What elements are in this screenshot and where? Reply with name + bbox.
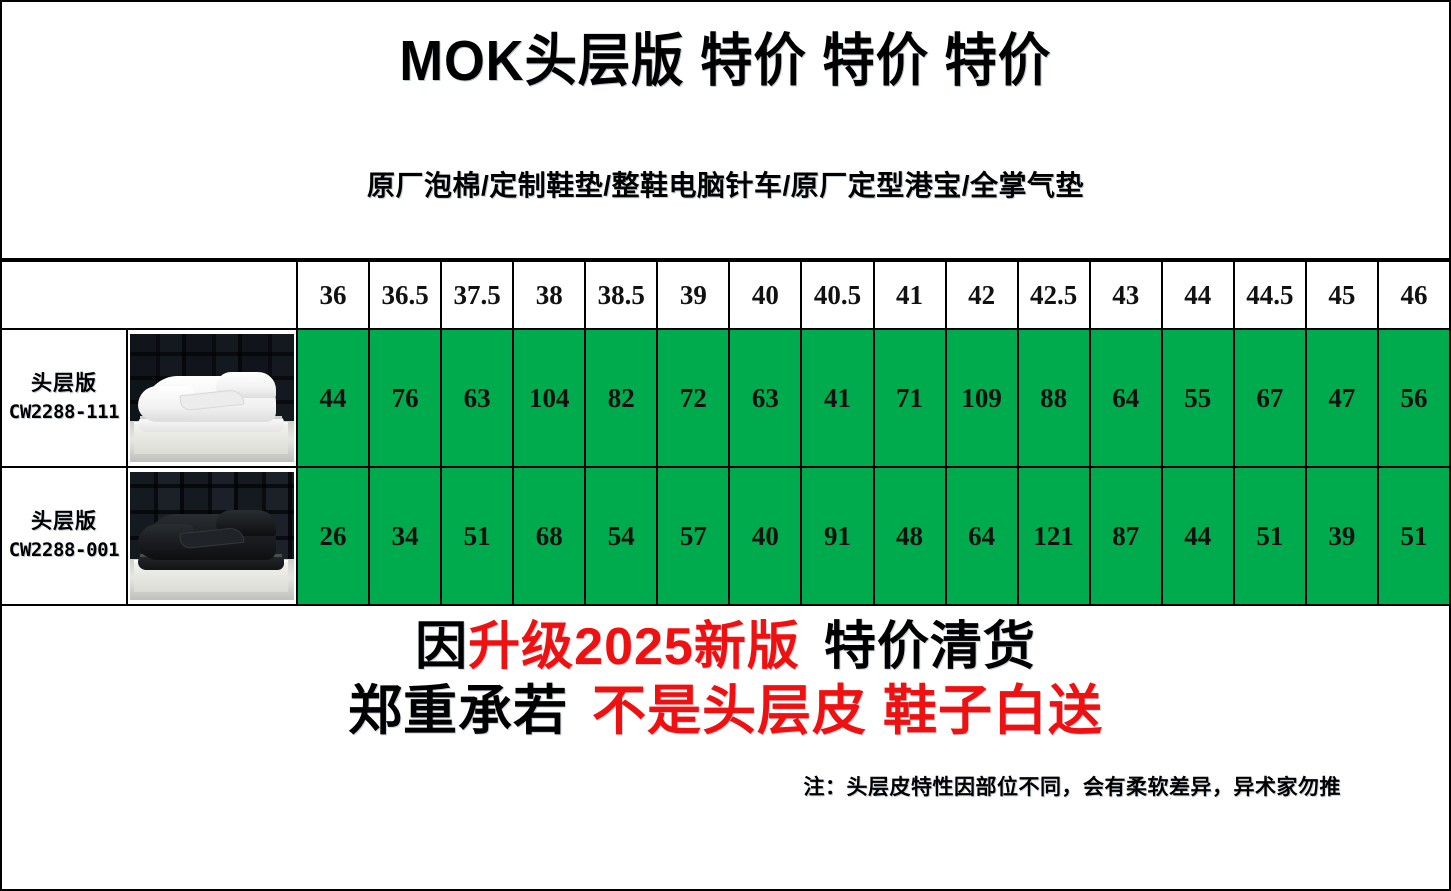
- size-header-44: 44: [1162, 261, 1234, 329]
- qty-cw2288-111-36: 44: [297, 329, 369, 467]
- product-photo-cell-black: [127, 467, 297, 605]
- qty-cw2288-111-38-5: 82: [585, 329, 657, 467]
- product-name-cn: 头层版: [2, 507, 126, 537]
- size-header-45: 45: [1306, 261, 1378, 329]
- qty-cw2288-111-44-5: 67: [1234, 329, 1306, 467]
- size-header-40-5: 40.5: [801, 261, 873, 329]
- qty-cw2288-001-38: 68: [513, 467, 585, 605]
- qty-cw2288-001-36: 26: [297, 467, 369, 605]
- qty-cw2288-001-39: 57: [657, 467, 729, 605]
- promo-line2-prefix: 郑重承若: [348, 681, 568, 741]
- product-name-cn: 头层版: [2, 369, 126, 399]
- stock-sheet: MOK头层版 特价 特价 特价 原厂泡棉/定制鞋垫/整鞋电脑针车/原厂定型港宝/…: [0, 0, 1451, 887]
- qty-cw2288-001-44-5: 51: [1234, 467, 1306, 605]
- qty-cw2288-111-42: 109: [946, 329, 1018, 467]
- qty-cw2288-001-44: 44: [1162, 467, 1234, 605]
- size-header-40: 40: [729, 261, 801, 329]
- qty-cw2288-111-40-5: 41: [801, 329, 873, 467]
- promo-line2-highlight: 不是头层皮 鞋子白送: [592, 681, 1103, 741]
- size-header-39: 39: [657, 261, 729, 329]
- qty-cw2288-111-40: 63: [729, 329, 801, 467]
- qty-cw2288-111-42-5: 88: [1018, 329, 1090, 467]
- promo-line-2: 郑重承若不是头层皮 鞋子白送: [2, 678, 1449, 746]
- qty-cw2288-001-40-5: 91: [801, 467, 873, 605]
- size-header-42-5: 42.5: [1018, 261, 1090, 329]
- qty-cw2288-001-36-5: 34: [369, 467, 441, 605]
- qty-cw2288-111-44: 55: [1162, 329, 1234, 467]
- size-header-36: 36: [297, 261, 369, 329]
- page-subtitle: 原厂泡棉/定制鞋垫/整鞋电脑针车/原厂定型港宝/全掌气垫: [367, 164, 1084, 204]
- promo-line1-prefix: 因: [415, 618, 468, 676]
- qty-cw2288-111-39: 72: [657, 329, 729, 467]
- subtitle-block: 原厂泡棉/定制鞋垫/整鞋电脑针车/原厂定型港宝/全掌气垫: [0, 110, 1451, 260]
- qty-cw2288-001-45: 39: [1306, 467, 1378, 605]
- product-label-cw2288-111: 头层版 CW2288-111: [1, 329, 127, 467]
- promo-block: 因升级2025新版特价清货 郑重承若不是头层皮 鞋子白送 注：头层皮特性因部位不…: [0, 606, 1451, 891]
- size-header-44-5: 44.5: [1234, 261, 1306, 329]
- qty-cw2288-111-41: 71: [874, 329, 946, 467]
- product-label-cw2288-001: 头层版 CW2288-001: [1, 467, 127, 605]
- size-header-38-5: 38.5: [585, 261, 657, 329]
- white-sneaker-photo: [130, 334, 294, 462]
- qty-cw2288-001-43: 87: [1090, 467, 1162, 605]
- size-header-38: 38: [513, 261, 585, 329]
- qty-cw2288-001-38-5: 54: [585, 467, 657, 605]
- table-row: 头层版 CW2288-111: [1, 329, 1450, 467]
- qty-cw2288-111-38: 104: [513, 329, 585, 467]
- header-corner-cell: [1, 261, 297, 329]
- size-stock-table: 36 36.5 37.5 38 38.5 39 40 40.5 41 42 42…: [0, 260, 1451, 606]
- size-header-36-5: 36.5: [369, 261, 441, 329]
- size-header-41: 41: [874, 261, 946, 329]
- promo-line1-highlight: 升级2025新版: [468, 618, 800, 676]
- size-header-46: 46: [1378, 261, 1450, 329]
- product-code: CW2288-111: [2, 399, 126, 427]
- qty-cw2288-111-43: 64: [1090, 329, 1162, 467]
- black-sneaker-photo: [130, 472, 294, 600]
- qty-cw2288-001-40: 40: [729, 467, 801, 605]
- product-code: CW2288-001: [2, 537, 126, 565]
- title-block: MOK头层版 特价 特价 特价: [0, 2, 1451, 110]
- table-header-row: 36 36.5 37.5 38 38.5 39 40 40.5 41 42 42…: [1, 261, 1450, 329]
- qty-cw2288-001-42: 64: [946, 467, 1018, 605]
- qty-cw2288-111-45: 47: [1306, 329, 1378, 467]
- qty-cw2288-001-37-5: 51: [441, 467, 513, 605]
- qty-cw2288-001-41: 48: [874, 467, 946, 605]
- qty-cw2288-111-36-5: 76: [369, 329, 441, 467]
- sneaker-shape: [138, 508, 284, 570]
- sneaker-shape: [138, 370, 284, 432]
- qty-cw2288-111-37-5: 63: [441, 329, 513, 467]
- qty-cw2288-111-46: 56: [1378, 329, 1450, 467]
- size-header-42: 42: [946, 261, 1018, 329]
- qty-cw2288-001-46: 51: [1378, 467, 1450, 605]
- product-photo-cell-white: [127, 329, 297, 467]
- table-row: 头层版 CW2288-001: [1, 467, 1450, 605]
- footnote-text: 注：头层皮特性因部位不同，会有柔软差异，异术家勿推: [2, 771, 1449, 801]
- page-title: MOK头层版 特价 特价 特价: [400, 15, 1052, 97]
- qty-cw2288-001-42-5: 121: [1018, 467, 1090, 605]
- size-header-37-5: 37.5: [441, 261, 513, 329]
- promo-line1-suffix: 特价清货: [824, 618, 1036, 676]
- size-header-43: 43: [1090, 261, 1162, 329]
- promo-line-1: 因升级2025新版特价清货: [2, 618, 1449, 678]
